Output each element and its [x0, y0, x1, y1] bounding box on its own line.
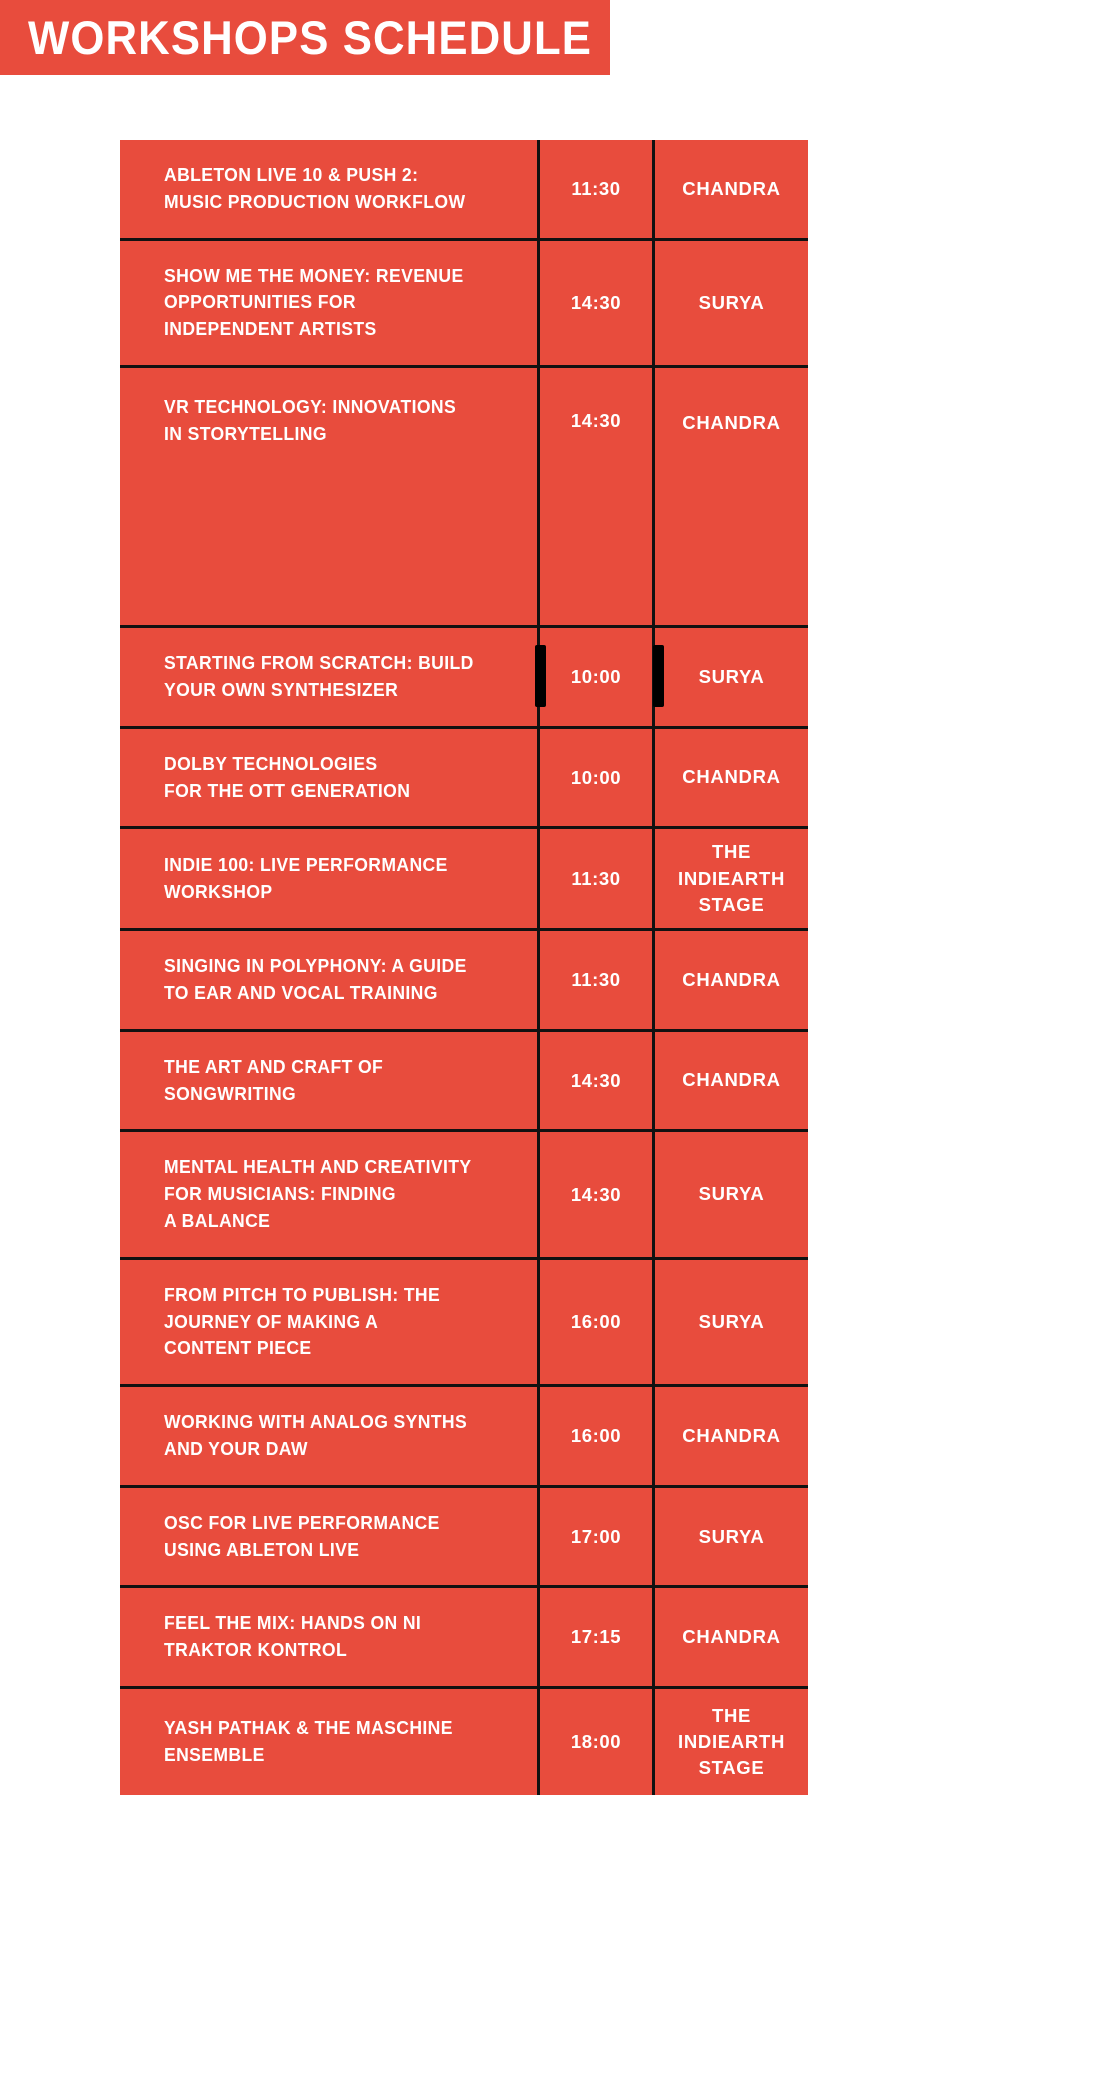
page-title-banner: WORKSHOPS SCHEDULE: [0, 0, 610, 75]
workshop-title: FEEL THE MIX: HANDS ON NITRAKTOR KONTROL: [164, 1610, 421, 1664]
workshop-time: 11:30: [571, 969, 620, 991]
workshop-time-cell: 17:15: [540, 1588, 655, 1686]
workshop-title-cell: WORKING WITH ANALOG SYNTHSAND YOUR DAW: [120, 1387, 540, 1485]
workshops-schedule-table: ABLETON LIVE 10 & PUSH 2:MUSIC PRODUCTIO…: [120, 140, 808, 1795]
workshop-time: 10:00: [571, 767, 621, 789]
workshop-venue: CHANDRA: [682, 176, 780, 202]
workshop-venue: CHANDRA: [682, 1423, 780, 1449]
workshop-venue: THEINDIEARTHSTAGE: [678, 839, 785, 918]
workshop-title: THE ART AND CRAFT OFSONGWRITING: [164, 1054, 383, 1108]
workshop-venue-cell: CHANDRA: [655, 1032, 808, 1130]
workshop-venue: SURYA: [699, 1524, 765, 1550]
workshop-time-cell: 11:30: [540, 829, 655, 928]
workshop-title: YASH PATHAK & THE MASCHINEENSEMBLE: [164, 1715, 453, 1769]
workshop-venue: SURYA: [699, 290, 765, 316]
table-row[interactable]: YASH PATHAK & THE MASCHINEENSEMBLE 18:00…: [120, 1689, 808, 1795]
workshop-title-cell: ABLETON LIVE 10 & PUSH 2:MUSIC PRODUCTIO…: [120, 140, 540, 238]
workshop-venue-cell: THEINDIEARTHSTAGE: [655, 829, 808, 928]
workshop-time-cell: 10:00: [540, 628, 655, 726]
workshop-title-cell: INDIE 100: LIVE PERFORMANCEWORKSHOP: [120, 829, 540, 928]
workshop-venue: CHANDRA: [682, 967, 780, 993]
workshop-title: WORKING WITH ANALOG SYNTHSAND YOUR DAW: [164, 1409, 467, 1463]
table-row[interactable]: VR TECHNOLOGY: INNOVATIONSIN STORYTELLIN…: [120, 368, 808, 628]
workshop-venue-cell: CHANDRA: [655, 729, 808, 827]
table-row[interactable]: SHOW ME THE MONEY: REVENUEOPPORTUNITIES …: [120, 241, 808, 368]
workshop-title: DOLBY TECHNOLOGIESFOR THE OTT GENERATION: [164, 751, 410, 805]
workshop-venue-cell: CHANDRA: [655, 368, 808, 625]
workshop-venue-cell: CHANDRA: [655, 1588, 808, 1686]
workshop-time: 18:00: [571, 1731, 621, 1753]
workshop-title: SHOW ME THE MONEY: REVENUEOPPORTUNITIES …: [164, 263, 464, 343]
table-row[interactable]: INDIE 100: LIVE PERFORMANCEWORKSHOP 11:3…: [120, 829, 808, 931]
page-title: WORKSHOPS SCHEDULE: [28, 14, 592, 61]
workshop-title-cell: FROM PITCH TO PUBLISH: THEJOURNEY OF MAK…: [120, 1260, 540, 1384]
table-row[interactable]: THE ART AND CRAFT OFSONGWRITING 14:30 CH…: [120, 1032, 808, 1133]
workshop-time-cell: 18:00: [540, 1689, 655, 1795]
workshop-title: SINGING IN POLYPHONY: A GUIDETO EAR AND …: [164, 953, 467, 1007]
workshop-time-cell: 11:30: [540, 140, 655, 238]
workshop-time: 17:15: [571, 1626, 621, 1648]
workshop-title-cell: DOLBY TECHNOLOGIESFOR THE OTT GENERATION: [120, 729, 540, 827]
workshop-time-cell: 14:30: [540, 1032, 655, 1130]
workshop-title-cell: FEEL THE MIX: HANDS ON NITRAKTOR KONTROL: [120, 1588, 540, 1686]
workshop-time-cell: 11:30: [540, 931, 655, 1029]
workshop-title-cell: OSC FOR LIVE PERFORMANCEUSING ABLETON LI…: [120, 1488, 540, 1586]
schedule-rows-container: ABLETON LIVE 10 & PUSH 2:MUSIC PRODUCTIO…: [120, 140, 808, 1795]
table-row[interactable]: STARTING FROM SCRATCH: BUILDYOUR OWN SYN…: [120, 628, 808, 729]
workshop-venue-cell: SURYA: [655, 1488, 808, 1586]
workshop-venue-cell: SURYA: [655, 628, 808, 726]
workshop-venue-cell: CHANDRA: [655, 931, 808, 1029]
workshop-time-cell: 10:00: [540, 729, 655, 827]
workshop-venue: CHANDRA: [682, 410, 780, 436]
workshop-title-cell: STARTING FROM SCRATCH: BUILDYOUR OWN SYN…: [120, 628, 540, 726]
workshop-venue: CHANDRA: [682, 764, 780, 790]
workshop-title: ABLETON LIVE 10 & PUSH 2:MUSIC PRODUCTIO…: [164, 162, 465, 216]
table-row[interactable]: MENTAL HEALTH AND CREATIVITYFOR MUSICIAN…: [120, 1132, 808, 1259]
workshop-venue-cell: CHANDRA: [655, 1387, 808, 1485]
workshop-time-cell: 16:00: [540, 1387, 655, 1485]
workshop-time-cell: 16:00: [540, 1260, 655, 1384]
table-row[interactable]: SINGING IN POLYPHONY: A GUIDETO EAR AND …: [120, 931, 808, 1032]
workshop-time: 17:00: [571, 1526, 621, 1548]
workshop-title: VR TECHNOLOGY: INNOVATIONSIN STORYTELLIN…: [164, 394, 456, 448]
workshop-time: 11:30: [571, 178, 620, 200]
workshop-time: 16:00: [571, 1425, 621, 1447]
workshop-venue-cell: SURYA: [655, 1260, 808, 1384]
table-row[interactable]: WORKING WITH ANALOG SYNTHSAND YOUR DAW 1…: [120, 1387, 808, 1488]
table-row[interactable]: FEEL THE MIX: HANDS ON NITRAKTOR KONTROL…: [120, 1588, 808, 1689]
workshop-venue: CHANDRA: [682, 1624, 780, 1650]
workshop-time: 14:30: [571, 1184, 621, 1206]
workshop-venue-cell: SURYA: [655, 1132, 808, 1256]
workshop-venue-cell: SURYA: [655, 241, 808, 365]
workshop-title-cell: THE ART AND CRAFT OFSONGWRITING: [120, 1032, 540, 1130]
workshop-venue: CHANDRA: [682, 1067, 780, 1093]
workshop-title-cell: SHOW ME THE MONEY: REVENUEOPPORTUNITIES …: [120, 241, 540, 365]
table-row[interactable]: ABLETON LIVE 10 & PUSH 2:MUSIC PRODUCTIO…: [120, 140, 808, 241]
workshop-title: FROM PITCH TO PUBLISH: THEJOURNEY OF MAK…: [164, 1282, 440, 1362]
workshop-title-cell: MENTAL HEALTH AND CREATIVITYFOR MUSICIAN…: [120, 1132, 540, 1256]
workshop-time: 14:30: [571, 1070, 621, 1092]
workshop-title-cell: SINGING IN POLYPHONY: A GUIDETO EAR AND …: [120, 931, 540, 1029]
workshop-time-cell: 14:30: [540, 241, 655, 365]
workshop-venue: SURYA: [699, 1309, 765, 1335]
workshop-time: 11:30: [571, 868, 620, 890]
workshop-title-cell: VR TECHNOLOGY: INNOVATIONSIN STORYTELLIN…: [120, 368, 540, 625]
table-row[interactable]: DOLBY TECHNOLOGIESFOR THE OTT GENERATION…: [120, 729, 808, 830]
workshop-title: INDIE 100: LIVE PERFORMANCEWORKSHOP: [164, 852, 448, 906]
workshop-time: 14:30: [571, 410, 621, 432]
workshop-venue: SURYA: [699, 1181, 765, 1207]
workshop-title-cell: YASH PATHAK & THE MASCHINEENSEMBLE: [120, 1689, 540, 1795]
workshop-venue: SURYA: [699, 664, 765, 690]
workshop-title: MENTAL HEALTH AND CREATIVITYFOR MUSICIAN…: [164, 1154, 471, 1234]
workshop-time-cell: 14:30: [540, 1132, 655, 1256]
table-row[interactable]: FROM PITCH TO PUBLISH: THEJOURNEY OF MAK…: [120, 1260, 808, 1387]
workshop-time: 10:00: [571, 666, 621, 688]
table-row[interactable]: OSC FOR LIVE PERFORMANCEUSING ABLETON LI…: [120, 1488, 808, 1589]
workshop-venue-cell: THEINDIEARTHSTAGE: [655, 1689, 808, 1795]
workshop-time-cell: 17:00: [540, 1488, 655, 1586]
workshop-time: 14:30: [571, 292, 621, 314]
workshop-time: 16:00: [571, 1311, 621, 1333]
workshop-title: STARTING FROM SCRATCH: BUILDYOUR OWN SYN…: [164, 650, 474, 704]
workshop-venue-cell: CHANDRA: [655, 140, 808, 238]
workshop-time-cell: 14:30: [540, 368, 655, 625]
workshop-title: OSC FOR LIVE PERFORMANCEUSING ABLETON LI…: [164, 1510, 440, 1564]
workshop-venue: THEINDIEARTHSTAGE: [678, 1703, 785, 1782]
